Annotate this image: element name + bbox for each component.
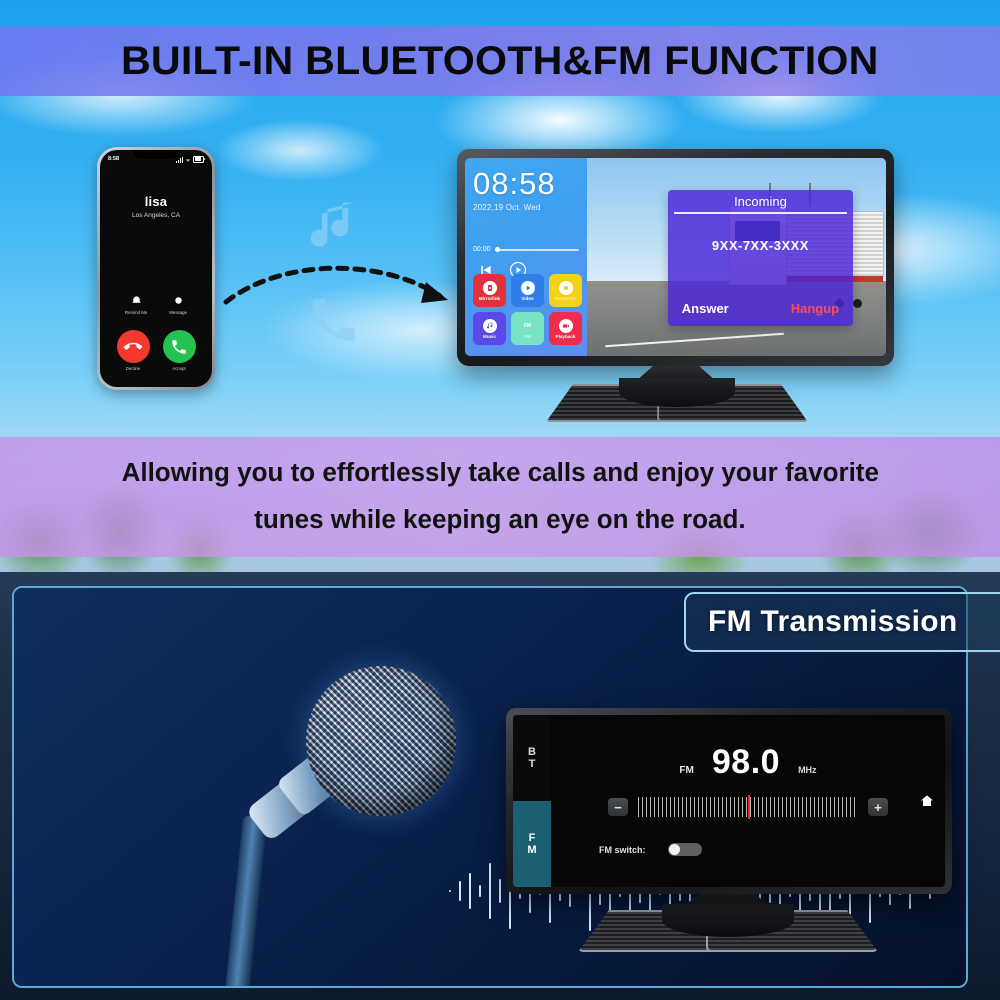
app-label: Recorder (555, 296, 575, 301)
car-display-monitor: 08:58 2022,19 Oct. Wed 00:00 (457, 149, 894, 366)
message-label: Message (169, 310, 187, 315)
decline-call-button[interactable]: Decline (117, 330, 150, 371)
incoming-call-dialog: Incoming 9XX-7XX-3XXX Answer Hangup (668, 190, 853, 327)
playback-camera-icon (559, 319, 573, 333)
app-label: Mirrorlink (479, 296, 500, 301)
accept-phone-icon (163, 330, 196, 363)
frequency-readout: FM 98.0 MHz (551, 745, 945, 779)
band-label: FM (679, 765, 693, 776)
home-icon[interactable] (919, 794, 935, 809)
caller-info: lisa Los Angeles, CA (100, 194, 212, 219)
fm-transmission-badge: FM Transmission (684, 592, 1000, 652)
message-button[interactable]: Message (169, 293, 187, 315)
app-label: Video (521, 296, 533, 301)
phone-secondary-actions: Remind Me Message (100, 293, 212, 315)
decline-label: Decline (126, 366, 141, 371)
message-icon (171, 293, 185, 307)
status-time: 8:58 (108, 156, 119, 162)
app-label: Playback (556, 334, 576, 339)
remind-me-label: Remind Me (125, 310, 147, 315)
progress-bar[interactable] (495, 249, 580, 251)
app-music[interactable]: Music (473, 312, 506, 345)
fm-icon: FM (521, 319, 535, 333)
toggle-knob (669, 844, 680, 855)
phone-call-actions: Decline Accept (100, 330, 212, 371)
incoming-call-buttons: Answer Hangup (668, 301, 853, 316)
remind-me-button[interactable]: Remind Me (125, 293, 147, 315)
app-video[interactable]: Video (511, 274, 544, 307)
track-progress[interactable]: 00:00 (473, 246, 579, 253)
fm-switch-label: FM switch: (599, 845, 646, 855)
mirrorlink-icon (483, 281, 497, 295)
answer-button[interactable]: Answer (682, 301, 729, 316)
accept-call-button[interactable]: Accept (163, 330, 196, 371)
frequency-increase-button[interactable]: + (868, 798, 888, 816)
fm-transmission-label: FM Transmission (708, 605, 958, 639)
fm-body: FM 98.0 MHz − + FM switch: (551, 715, 945, 887)
fm-switch-toggle[interactable] (668, 843, 702, 856)
fm-monitor-stand-base (578, 910, 878, 948)
frequency-unit: MHz (798, 765, 817, 775)
caption-line-2: tunes while keeping an eye on the road. (254, 506, 745, 535)
car-clock: 08:58 (473, 168, 579, 199)
fm-screen: BT FM FM 98.0 MHz − + FM switch: (513, 715, 945, 887)
app-label: Music (483, 334, 496, 339)
fm-switch-row: FM switch: (599, 843, 702, 856)
car-date: 2022,19 Oct. Wed (473, 203, 579, 212)
caller-location: Los Angeles, CA (100, 212, 212, 219)
monitor-stand-base (546, 384, 808, 418)
caller-name: lisa (100, 194, 212, 209)
transfer-arrow-icon (222, 250, 462, 320)
dialog-divider (674, 212, 847, 214)
app-recorder[interactable]: Recorder (549, 274, 582, 307)
signal-icon (176, 157, 183, 163)
hangup-button[interactable]: Hangup (791, 301, 839, 316)
alarm-icon (129, 293, 143, 307)
app-playback[interactable]: Playback (549, 312, 582, 345)
stand-center (619, 378, 734, 407)
battery-icon (193, 156, 204, 163)
frequency-tuner: − + (551, 797, 945, 817)
incoming-number: 9XX-7XX-3XXX (668, 238, 853, 253)
status-icons (176, 156, 204, 163)
smartphone-mockup: 8:58 lisa Los Angeles, CA (97, 147, 215, 390)
phone-screen: 8:58 lisa Los Angeles, CA (100, 150, 212, 387)
decline-phone-icon (117, 330, 150, 363)
music-note-icon (305, 196, 365, 258)
tab-bt[interactable]: BT (513, 715, 551, 801)
mic-head (306, 666, 456, 816)
rear-camera-view: Incoming 9XX-7XX-3XXX Answer Hangup (587, 158, 886, 356)
product-marketing-image: BUILT-IN BLUETOOTH&FM FUNCTION 8:58 lis (0, 0, 1000, 1000)
frequency-value: 98.0 (712, 745, 780, 779)
wifi-icon (185, 157, 191, 163)
car-home-panel: 08:58 2022,19 Oct. Wed 00:00 (465, 158, 587, 356)
caption-line-1: Allowing you to effortlessly take calls … (121, 459, 878, 488)
app-mirrorlink[interactable]: Mirrorlink (473, 274, 506, 307)
caption-banner: Allowing you to effortlessly take calls … (0, 437, 1000, 557)
page-title: BUILT-IN BLUETOOTH&FM FUNCTION (121, 39, 879, 84)
frequency-scale[interactable] (638, 797, 858, 817)
fm-display-monitor: BT FM FM 98.0 MHz − + FM switch: (506, 708, 952, 894)
phone-status-bar: 8:58 (100, 154, 212, 164)
video-play-icon (521, 281, 535, 295)
frequency-decrease-button[interactable]: − (608, 798, 628, 816)
music-note-icon (483, 319, 497, 333)
car-display-screen: 08:58 2022,19 Oct. Wed 00:00 (465, 158, 886, 356)
app-label: FM (524, 334, 531, 339)
incoming-title: Incoming (668, 190, 853, 209)
accept-label: Accept (172, 366, 185, 371)
app-fm[interactable]: FM FM (511, 312, 544, 345)
title-banner: BUILT-IN BLUETOOTH&FM FUNCTION (0, 26, 1000, 96)
tab-fm[interactable]: FM (513, 801, 551, 887)
track-time: 00:00 (473, 246, 491, 253)
recorder-icon (559, 281, 573, 295)
fm-side-tabs: BT FM (513, 715, 551, 887)
